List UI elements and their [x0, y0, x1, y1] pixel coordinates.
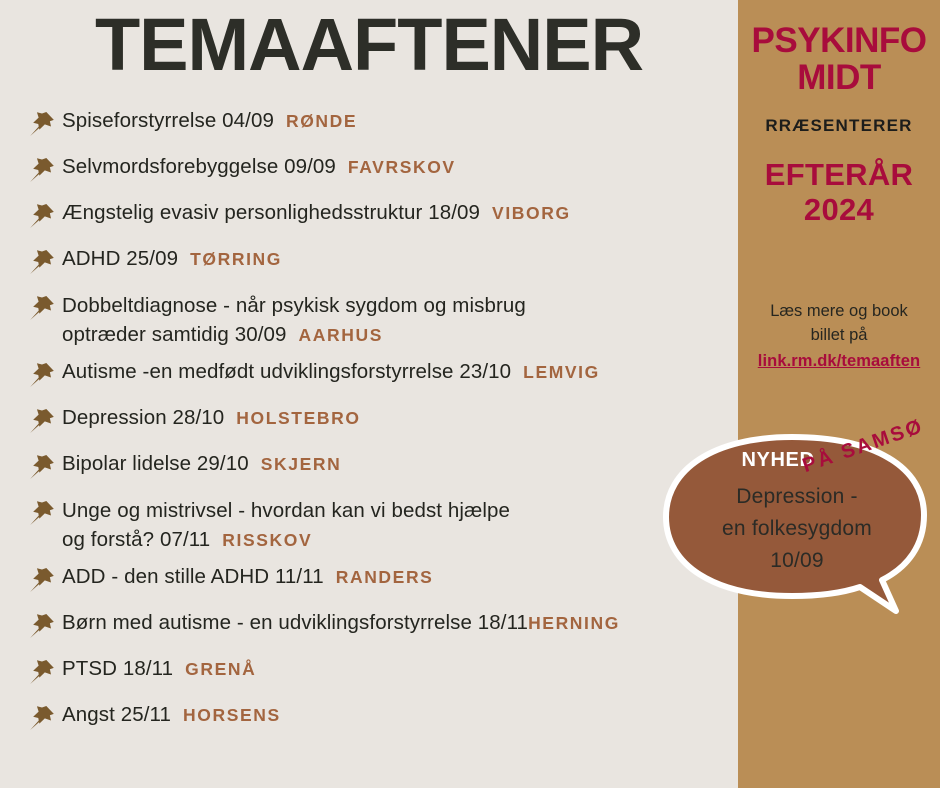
event-text: Spiseforstyrrelse 04/09RØNDE — [62, 106, 738, 135]
event-title-line: Børn med autisme - en udviklingsforstyrr… — [62, 609, 738, 637]
event-row[interactable]: ADHD 25/09TØRRING — [22, 244, 738, 282]
event-title-line: PTSD 18/11GRENÅ — [62, 655, 738, 683]
main-column: TEMAAFTENER Spiseforstyrrelse 04/09RØNDE… — [0, 0, 738, 788]
event-title-line: Selvmordsforebyggelse 09/09FAVRSKOV — [62, 153, 738, 181]
event-title-line: og forstå? 07/11RISSKOV — [62, 525, 738, 554]
pushpin-icon — [22, 247, 62, 277]
event-row[interactable]: Autisme -en medfødt udviklingsforstyrrel… — [22, 357, 738, 395]
pushpin-icon — [22, 452, 62, 482]
booking-instruction: Læs mere og book billet på — [770, 302, 908, 344]
booking-info: Læs mere og book billet på link.rm.dk/te… — [738, 300, 940, 375]
event-row[interactable]: ADD - den stille ADHD 11/11RANDERS — [22, 562, 738, 600]
bubble-content: NYHED Depression - en folkesygdom 10/09 — [678, 449, 916, 577]
event-city: RØNDE — [286, 111, 357, 131]
event-city: HORSENS — [183, 705, 281, 725]
event-row[interactable]: Selvmordsforebyggelse 09/09FAVRSKOV — [22, 152, 738, 190]
pushpin-icon — [22, 565, 62, 595]
event-text: Unge og mistrivsel - hvordan kan vi beds… — [62, 495, 738, 554]
event-list: Spiseforstyrrelse 04/09RØNDESelvmordsfor… — [22, 106, 738, 746]
event-city: HOLSTEBRO — [236, 408, 360, 428]
event-title-line: Spiseforstyrrelse 04/09RØNDE — [62, 107, 738, 135]
event-title-line: ADD - den stille ADHD 11/11RANDERS — [62, 563, 738, 591]
event-text: Bipolar lidelse 29/10SKJERN — [62, 449, 738, 478]
booking-link[interactable]: link.rm.dk/temaaften — [748, 350, 930, 374]
event-text: Depression 28/10HOLSTEBRO — [62, 403, 738, 432]
pushpin-icon — [22, 406, 62, 436]
event-city: GRENÅ — [185, 659, 256, 679]
event-row[interactable]: PTSD 18/11GRENÅ — [22, 654, 738, 692]
event-text: ADD - den stille ADHD 11/11RANDERS — [62, 562, 738, 591]
event-text: Ængstelig evasiv personlighedsstruktur 1… — [62, 198, 738, 227]
event-city: RISSKOV — [222, 530, 312, 550]
event-title-line: Unge og mistrivsel - hvordan kan vi beds… — [62, 496, 738, 525]
event-city: FAVRSKOV — [348, 157, 456, 177]
event-text: Børn med autisme - en udviklingsforstyrr… — [62, 608, 738, 637]
event-title-line: Angst 25/11HORSENS — [62, 701, 738, 729]
event-text: ADHD 25/09TØRRING — [62, 244, 738, 273]
event-text: Dobbeltdiagnose - når psykisk sygdom og … — [62, 290, 738, 349]
pushpin-icon — [22, 155, 62, 185]
event-title-line: Bipolar lidelse 29/10SKJERN — [62, 450, 738, 478]
bubble-body-text: Depression - en folkesygdom 10/09 — [678, 481, 916, 577]
event-row[interactable]: Spiseforstyrrelse 04/09RØNDE — [22, 106, 738, 144]
page-title: TEMAAFTENER — [0, 6, 738, 84]
pushpin-icon — [22, 360, 62, 390]
pushpin-icon — [22, 657, 62, 687]
pushpin-icon — [22, 703, 62, 733]
event-row[interactable]: Ængstelig evasiv personlighedsstruktur 1… — [22, 198, 738, 236]
pushpin-icon — [22, 498, 62, 528]
event-city: HERNING — [528, 613, 620, 633]
event-title-line: Ængstelig evasiv personlighedsstruktur 1… — [62, 199, 738, 227]
brand-title: PSYKINFO MIDT — [738, 22, 940, 96]
event-city: TØRRING — [190, 249, 282, 269]
event-title-line: optræder samtidig 30/09AARHUS — [62, 320, 738, 349]
event-title-line: Depression 28/10HOLSTEBRO — [62, 404, 738, 432]
event-title-line: Dobbeltdiagnose - når psykisk sygdom og … — [62, 291, 738, 320]
event-row[interactable]: Bipolar lidelse 29/10SKJERN — [22, 449, 738, 487]
event-row[interactable]: Børn med autisme - en udviklingsforstyrr… — [22, 608, 738, 646]
news-speech-bubble: NYHED Depression - en folkesygdom 10/09 … — [652, 425, 940, 640]
event-city: AARHUS — [299, 325, 383, 345]
presents-label: RRÆSENTERER — [738, 116, 940, 136]
sidebar-panel: PSYKINFO MIDT RRÆSENTERER EFTERÅR 2024 L… — [738, 0, 940, 788]
event-row[interactable]: Depression 28/10HOLSTEBRO — [22, 403, 738, 441]
pushpin-icon — [22, 109, 62, 139]
event-title-line: Autisme -en medfødt udviklingsforstyrrel… — [62, 358, 738, 386]
pushpin-icon — [22, 611, 62, 641]
event-text: Autisme -en medfødt udviklingsforstyrrel… — [62, 357, 738, 386]
event-row[interactable]: Dobbeltdiagnose - når psykisk sygdom og … — [22, 290, 738, 349]
event-text: Angst 25/11HORSENS — [62, 700, 738, 729]
event-city: LEMVIG — [523, 362, 600, 382]
event-row[interactable]: Angst 25/11HORSENS — [22, 700, 738, 738]
event-text: PTSD 18/11GRENÅ — [62, 654, 738, 683]
pushpin-icon — [22, 293, 62, 323]
event-city: VIBORG — [492, 203, 571, 223]
event-city: RANDERS — [336, 567, 434, 587]
event-text: Selvmordsforebyggelse 09/09FAVRSKOV — [62, 152, 738, 181]
event-city: SKJERN — [261, 454, 342, 474]
event-title-line: ADHD 25/09TØRRING — [62, 245, 738, 273]
poster-canvas: TEMAAFTENER Spiseforstyrrelse 04/09RØNDE… — [0, 0, 940, 788]
event-row[interactable]: Unge og mistrivsel - hvordan kan vi beds… — [22, 495, 738, 554]
pushpin-icon — [22, 201, 62, 231]
season-title: EFTERÅR 2024 — [738, 158, 940, 227]
